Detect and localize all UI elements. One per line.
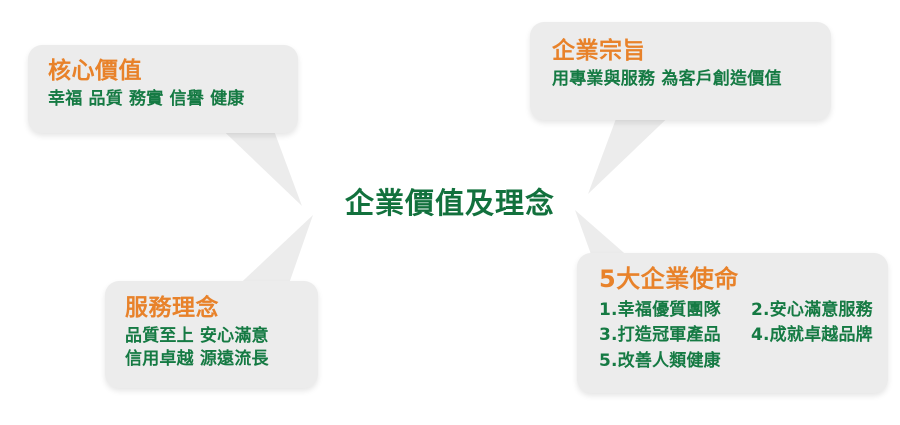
mission-item-5: 5.改善人類健康 [599,349,751,374]
bubble-five-missions: 5大企業使命 1.幸福優質團隊2.安心滿意服務 3.打造冠軍產品4.成就卓越品牌… [577,253,888,393]
mission-item-3: 3.打造冠軍產品 [599,323,751,348]
mission-row: 1.幸福優質團隊2.安心滿意服務 [599,298,866,323]
bubble-core-values-title: 核心價值 [48,58,278,85]
bubble-five-missions-title: 5大企業使命 [599,265,866,293]
bubble-service-philosophy: 服務理念 品質至上 安心滿意 信用卓越 源遠流長 [105,281,318,388]
bubble-core-values: 核心價值 幸福 品質 務實 信譽 健康 [28,45,298,133]
bubble-corporate-mission-content: 企業宗旨 用專業與服務 為客戶創造價值 [530,22,831,120]
bubble-service-philosophy-content: 服務理念 品質至上 安心滿意 信用卓越 源遠流長 [105,281,318,388]
mission-row: 3.打造冠軍產品4.成就卓越品牌 [599,323,866,348]
mission-item-1: 1.幸福優質團隊 [599,298,751,323]
bubble-service-philosophy-line-2: 信用卓越 源遠流長 [125,348,298,370]
bubble-service-philosophy-title: 服務理念 [125,295,298,322]
bubble-corporate-mission-line-1: 用專業與服務 為客戶創造價值 [552,68,809,90]
bubble-corporate-mission: 企業宗旨 用專業與服務 為客戶創造價值 [530,22,831,120]
mission-item-2: 2.安心滿意服務 [751,298,873,323]
bubble-service-philosophy-line-1: 品質至上 安心滿意 [125,325,298,347]
value-and-philosophy-infographic: 核心價值 幸福 品質 務實 信譽 健康 企業宗旨 用專業與服務 為客戶創造價值 … [0,0,900,425]
bubble-core-values-content: 核心價值 幸福 品質 務實 信譽 健康 [28,45,298,133]
page-title: 企業價值及理念 [0,180,900,222]
mission-item-4: 4.成就卓越品牌 [751,323,873,348]
bubble-five-missions-content: 5大企業使命 1.幸福優質團隊2.安心滿意服務 3.打造冠軍產品4.成就卓越品牌… [577,253,888,393]
bubble-corporate-mission-title: 企業宗旨 [552,38,809,65]
mission-row: 5.改善人類健康 [599,349,866,374]
bubble-core-values-line-1: 幸福 品質 務實 信譽 健康 [48,88,278,110]
